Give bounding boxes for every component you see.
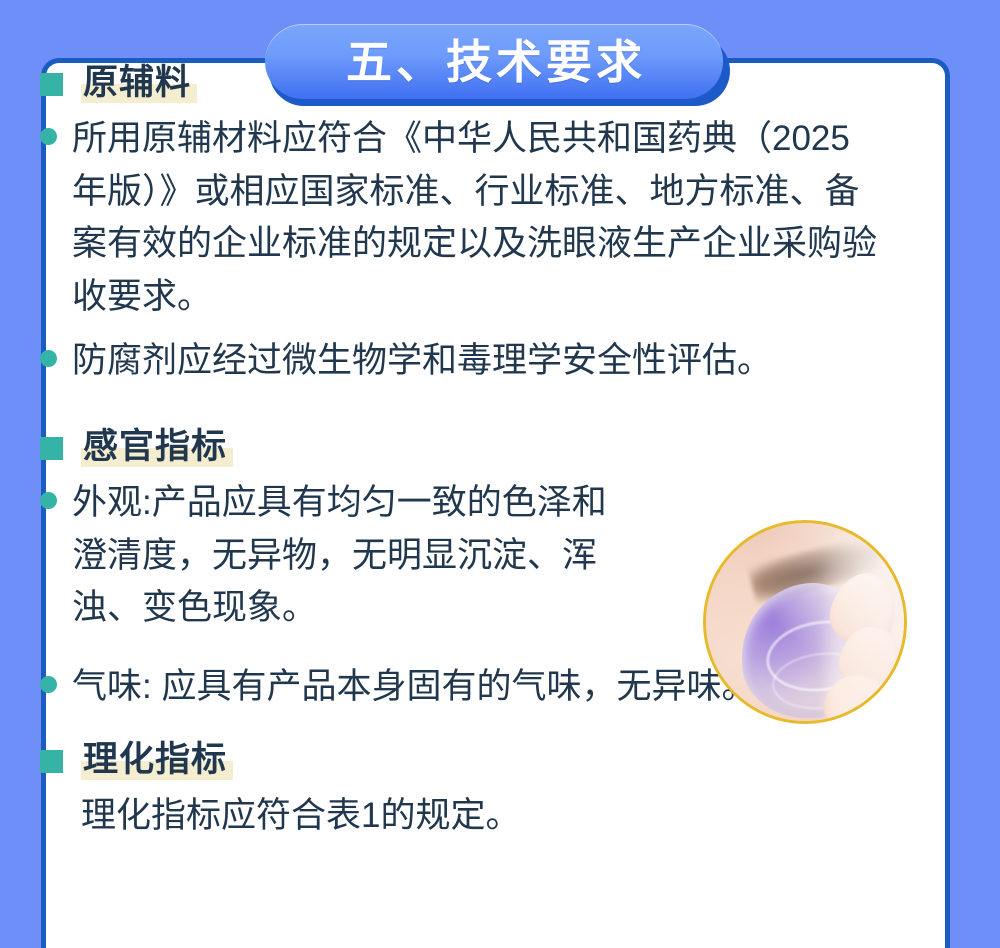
eye-wash-cup-photo	[703, 520, 907, 724]
paragraph-row: 理化指标应符合表1的规定。	[40, 790, 883, 843]
section-heading-sensory: 感官指标	[40, 426, 883, 467]
paragraph-text: 理化指标应符合表1的规定。	[81, 796, 520, 835]
section-heading-label: 原辅料	[81, 62, 197, 103]
list-item-text: 外观:产品应具有均匀一致的色泽和澄清度，无异物，无明显沉淀、浑浊、变色现象。	[72, 477, 632, 635]
section-heading-physicochemical: 理化指标	[40, 739, 883, 780]
list-item: 防腐剂应经过微生物学和毒理学安全性评估。	[40, 335, 883, 388]
square-bullet-icon	[40, 437, 63, 460]
infographic-poster: 五、技术要求 原辅料 所用原辅材料应符合《中华人民共和国药典（2025年版）》或…	[0, 0, 1000, 948]
spacer	[40, 725, 883, 739]
spacer	[40, 400, 883, 426]
list-item: 所用原辅材料应符合《中华人民共和国药典（2025年版）》或相应国家标准、行业标准…	[40, 113, 883, 323]
dot-bullet-icon	[40, 492, 57, 509]
dot-bullet-icon	[40, 350, 57, 367]
card-content: 原辅料 所用原辅材料应符合《中华人民共和国药典（2025年版）》或相应国家标准、…	[0, 0, 909, 853]
section-heading-label: 理化指标	[81, 739, 233, 780]
photo-sheen-layer	[706, 523, 904, 721]
list-item-text: 防腐剂应经过微生物学和毒理学安全性评估。	[72, 335, 883, 388]
dot-bullet-icon	[40, 128, 57, 145]
section-heading-raw-materials: 原辅料	[40, 62, 883, 103]
section-heading-label: 感官指标	[81, 426, 233, 467]
dot-bullet-icon	[40, 676, 57, 693]
square-bullet-icon	[40, 750, 63, 773]
square-bullet-icon	[40, 73, 63, 96]
list-item-text: 所用原辅材料应符合《中华人民共和国药典（2025年版）》或相应国家标准、行业标准…	[72, 113, 883, 323]
